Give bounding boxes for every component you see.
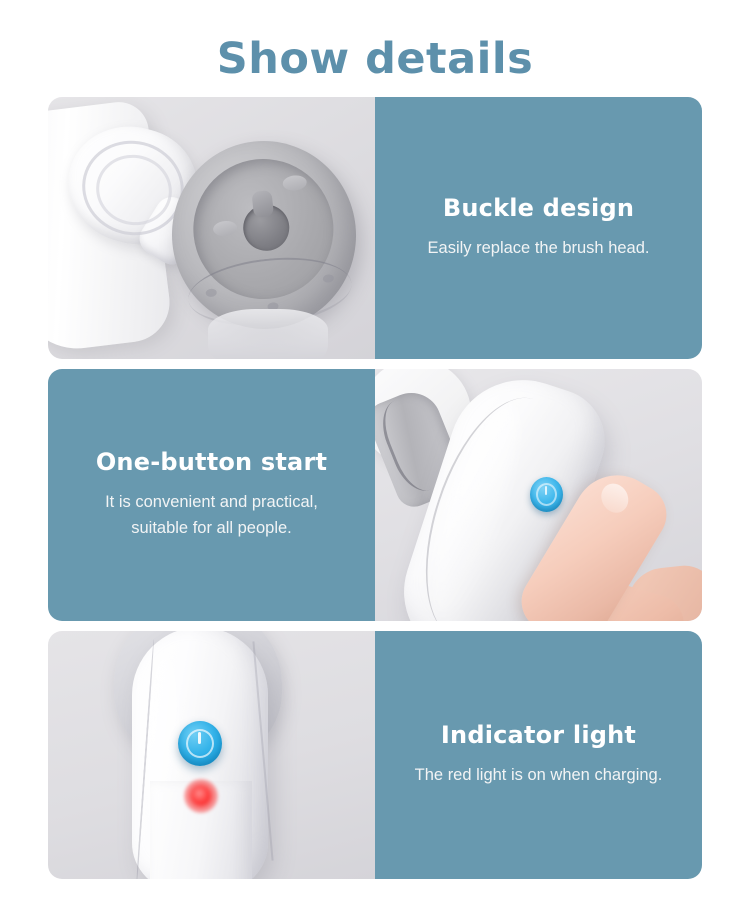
feature-title: Buckle design	[443, 194, 634, 222]
product-detail-page: Show details	[0, 0, 750, 906]
power-symbol-stem	[545, 486, 547, 495]
feature-text-pane-indicator-light: Indicator light The red light is on when…	[375, 631, 702, 879]
feature-description: The red light is on when charging.	[415, 763, 663, 789]
fingernail-shape	[596, 479, 633, 518]
power-button-icon	[530, 477, 563, 512]
page-title: Show details	[0, 34, 750, 84]
feature-text-pane-buckle-design: Buckle design Easily replace the brush h…	[375, 97, 702, 359]
feature-text-pane-one-button-start: One-button start It is convenient and pr…	[48, 369, 375, 621]
handle-with-red-indicator-light-photo	[48, 631, 375, 879]
red-indicator-light	[184, 779, 218, 813]
finger-pressing-power-button-photo	[375, 369, 702, 621]
power-button-icon	[178, 721, 222, 766]
socket-drive-pin	[251, 190, 274, 218]
brush-bristle-base	[208, 309, 328, 359]
buckle-tab-right	[282, 174, 307, 191]
feature-card-list: Buckle design Easily replace the brush h…	[48, 97, 702, 879]
feature-card-indicator-light: Indicator light The red light is on when…	[48, 631, 702, 879]
feature-title: Indicator light	[441, 721, 636, 749]
feature-description: It is convenient and practical, suitable…	[87, 490, 337, 541]
power-symbol-stem	[198, 732, 201, 744]
feature-title: One-button start	[96, 448, 327, 476]
gray-socket-shape	[163, 132, 366, 338]
feature-description: Easily replace the brush head.	[428, 236, 650, 262]
feature-card-one-button-start: One-button start It is convenient and pr…	[48, 369, 702, 621]
buckle-tab-left	[212, 220, 237, 237]
brush-head-and-socket-photo	[48, 97, 375, 359]
feature-card-buckle-design: Buckle design Easily replace the brush h…	[48, 97, 702, 359]
red-indicator-light-core	[192, 787, 210, 805]
